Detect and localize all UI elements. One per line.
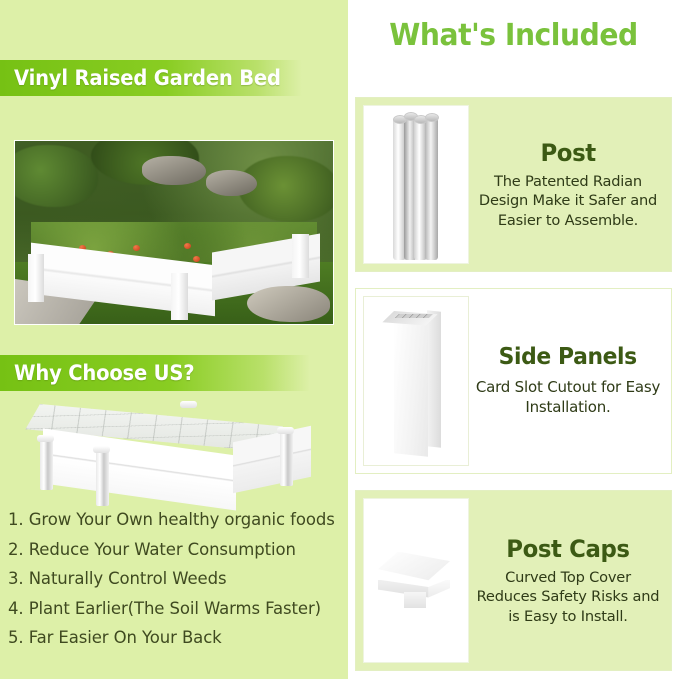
why-choose-banner: Why Choose US? xyxy=(0,355,310,391)
post-cap-icon xyxy=(374,550,458,612)
infographic-page: Vinyl Raised Garden Bed W xyxy=(0,0,679,679)
photo-rock xyxy=(142,156,206,185)
card-description: Curved Top Cover Reduces Safety Risks an… xyxy=(473,568,663,626)
card-description: The Patented Radian Design Make it Safer… xyxy=(473,172,663,230)
photo-rock xyxy=(206,170,257,196)
card-title: Post Caps xyxy=(506,535,629,563)
post-cap-card-body: Post Caps Curved Top Cover Reduces Safet… xyxy=(469,491,671,670)
list-item: 4. Plant Earlier(The Soil Warms Faster) xyxy=(8,601,348,618)
side-panel-card-body: Side Panels Card Slot Cutout for Easy In… xyxy=(469,289,671,473)
photo-corner-post xyxy=(28,254,44,302)
render-corner-post xyxy=(40,440,53,491)
photo-shrub xyxy=(14,145,98,207)
title-banner: Vinyl Raised Garden Bed xyxy=(0,60,302,96)
included-card-post-caps: Post Caps Curved Top Cover Reduces Safet… xyxy=(355,490,672,671)
photo-corner-post xyxy=(171,273,188,321)
card-description: Card Slot Cutout for Easy Installation. xyxy=(473,378,663,418)
title-banner-text: Vinyl Raised Garden Bed xyxy=(14,66,281,90)
post-cap-thumbnail xyxy=(363,498,469,663)
side-panel-face xyxy=(394,317,428,457)
post-cap-stub xyxy=(404,592,426,608)
product-render xyxy=(18,398,330,508)
post-thumbnail xyxy=(363,105,469,264)
photo-corner-post xyxy=(292,234,309,278)
hero-garden-photo xyxy=(14,140,334,325)
right-panel: What's Included Post The Patented Radian… xyxy=(348,0,679,679)
post-tube-opening xyxy=(425,113,439,122)
post-icon xyxy=(393,110,439,260)
card-title: Post xyxy=(540,139,595,167)
post-card-body: Post The Patented Radian Design Make it … xyxy=(469,98,671,271)
benefits-list: 1. Grow Your Own healthy organic foods 2… xyxy=(8,512,348,660)
render-post-cap xyxy=(37,435,54,442)
side-panel-card-slot xyxy=(395,314,433,318)
render-post-cap xyxy=(93,446,110,453)
list-item: 3. Naturally Control Weeds xyxy=(8,571,348,588)
list-item: 1. Grow Your Own healthy organic foods xyxy=(8,512,348,529)
included-heading: What's Included xyxy=(358,18,669,53)
side-panel-edge xyxy=(427,310,441,447)
render-corner-post xyxy=(280,431,293,486)
render-post-cap xyxy=(277,427,294,434)
included-card-side-panels: Side Panels Card Slot Cutout for Easy In… xyxy=(355,288,672,474)
side-panel-thumbnail xyxy=(363,296,469,466)
render-body xyxy=(18,398,330,508)
why-choose-banner-text: Why Choose US? xyxy=(14,361,194,385)
side-panel-icon xyxy=(386,305,446,457)
included-card-post: Post The Patented Radian Design Make it … xyxy=(355,97,672,272)
card-title: Side Panels xyxy=(499,344,637,370)
render-corner-post xyxy=(96,451,109,506)
photo-foreground-rock xyxy=(247,286,330,323)
list-item: 2. Reduce Your Water Consumption xyxy=(8,542,348,559)
left-panel: Vinyl Raised Garden Bed W xyxy=(0,0,348,679)
list-item: 5. Far Easier On Your Back xyxy=(8,630,348,647)
post-tube xyxy=(425,118,438,260)
photo-berry xyxy=(133,245,140,251)
render-post-cap xyxy=(180,401,197,408)
